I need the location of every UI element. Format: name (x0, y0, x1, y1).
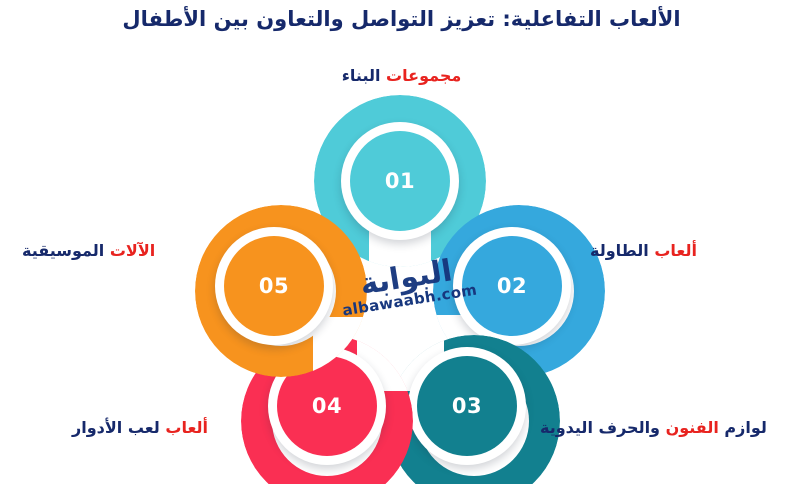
petal-05-number: 05 (259, 274, 289, 298)
petal-05-badge[interactable]: 05 (215, 227, 333, 345)
petal-05[interactable]: 05 (195, 95, 605, 470)
label-petal-03-prefix: لوازم (724, 418, 766, 437)
page-title: الألعاب التفاعلية: تعزيز التواصل والتعاو… (0, 6, 803, 32)
label-petal-03-accent: الفنون (666, 418, 719, 437)
infographic-page: الألعاب التفاعلية: تعزيز التواصل والتعاو… (0, 0, 803, 484)
label-petal-01-accent: مجموعات (386, 66, 461, 85)
label-petal-04: ألعاب لعب الأدوار (72, 418, 208, 438)
label-petal-05-rest: الموسيقية (22, 241, 104, 260)
label-petal-03: لوازم الفنون والحرف اليدوية (540, 418, 767, 438)
label-petal-02: ألعاب الطاولة (590, 241, 697, 261)
label-petal-04-accent: ألعاب (165, 418, 208, 437)
label-petal-03-rest: والحرف اليدوية (540, 418, 660, 437)
label-petal-02-rest: الطاولة (590, 241, 649, 260)
label-petal-01-rest: البناء (342, 66, 381, 85)
label-petal-05: الآلات الموسيقية (22, 241, 155, 261)
label-petal-04-rest: لعب الأدوار (72, 418, 160, 437)
petal-diagram: 01 02 (195, 95, 605, 470)
label-petal-05-accent: الآلات (110, 241, 155, 260)
label-petal-01: مجموعات البناء (0, 66, 803, 86)
label-petal-02-accent: ألعاب (654, 241, 697, 260)
